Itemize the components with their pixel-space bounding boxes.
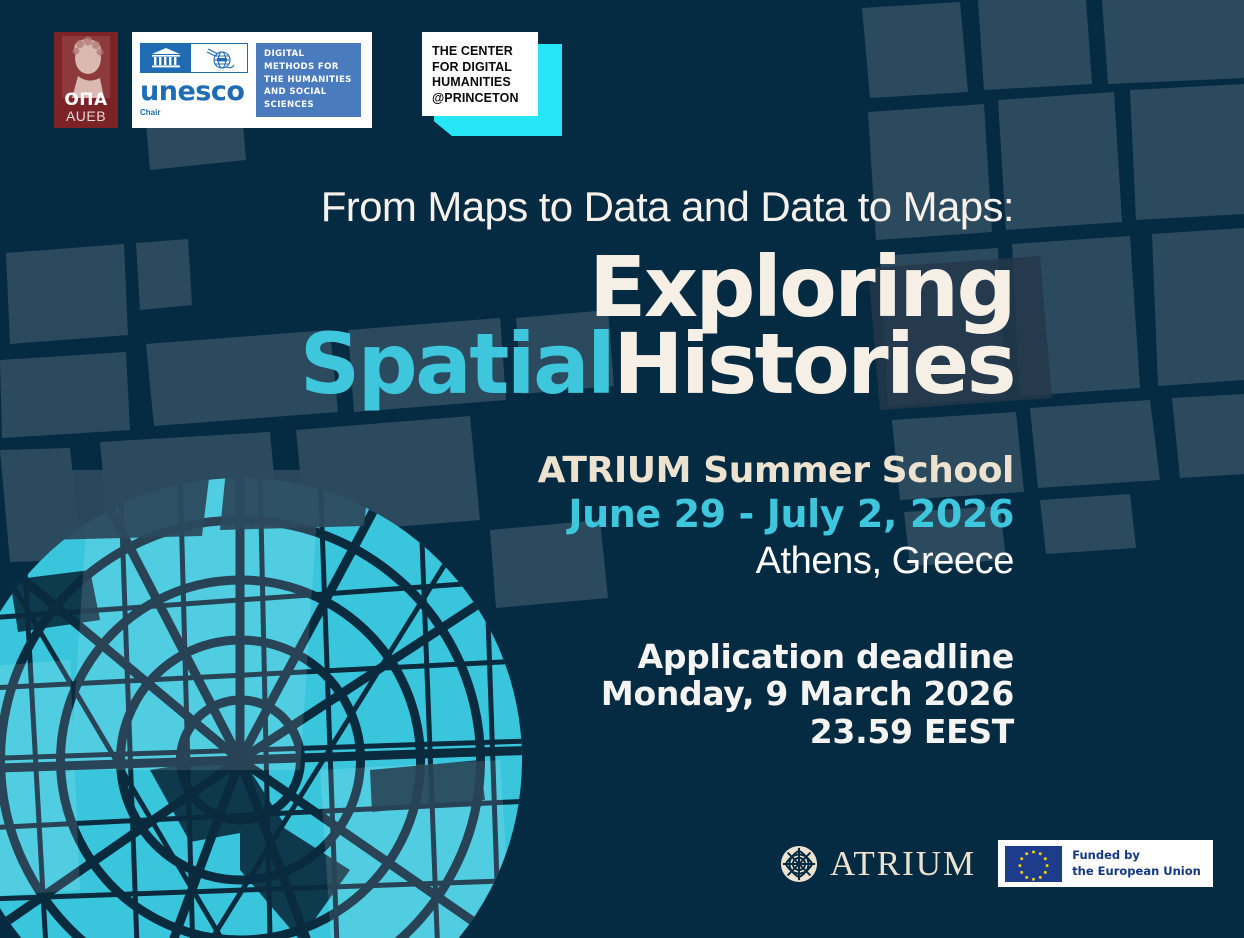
aueb-secondary-text: AUEB xyxy=(66,109,106,124)
cdh-line-3: HUMANITIES xyxy=(432,75,530,91)
unesco-globe-emblem-icon xyxy=(191,44,247,72)
european-union-flag-icon xyxy=(1005,846,1062,882)
unesco-chair-subtitle: Chair xyxy=(140,108,248,117)
event-dates: June 29 - July 2, 2026 xyxy=(0,492,1014,537)
unesco-emblem-row xyxy=(140,43,248,73)
center-for-digital-humanities-princeton-logo: THE CENTER FOR DIGITAL HUMANITIES @PRINC… xyxy=(422,32,562,136)
deadline-label: Application deadline xyxy=(0,638,1014,675)
cdh-line-2: FOR DIGITAL xyxy=(432,60,530,76)
headline-word-spatial: Spatial xyxy=(300,315,614,413)
cdh-line-4: @PRINCETON xyxy=(432,91,530,107)
cdh-line-1: THE CENTER xyxy=(432,44,530,60)
partner-logo-row: ΟΠΑ AUEB xyxy=(54,32,562,136)
unesco-chair-panel-text: DIGITAL METHODS FOR THE HUMANITIES AND S… xyxy=(256,43,361,117)
event-details-block: ATRIUM Summer School June 29 - July 2, 2… xyxy=(0,450,1014,587)
classical-bust-icon xyxy=(62,36,110,98)
headline-kicker: From Maps to Data and Data to Maps: xyxy=(0,186,1014,228)
aueb-logo: ΟΠΑ AUEB xyxy=(54,32,118,128)
headline-block: From Maps to Data and Data to Maps: Expl… xyxy=(0,186,1014,404)
headline-word-histories: Histories xyxy=(613,315,1014,413)
unesco-temple-icon xyxy=(141,44,191,72)
application-deadline-block: Application deadline Monday, 9 March 202… xyxy=(0,638,1014,750)
poster-canvas: ΟΠΑ AUEB xyxy=(0,0,1244,938)
footer-logo-row: ATRIUM xyxy=(780,840,1213,887)
deadline-time: 23.59 EEST xyxy=(0,713,1014,750)
unesco-wordmark: unesco xyxy=(140,78,248,105)
unesco-chair-logo: unesco Chair DIGITAL METHODS FOR THE HUM… xyxy=(132,32,372,128)
funded-by-european-union-logo: Funded by the European Union xyxy=(998,840,1213,887)
event-location: Athens, Greece xyxy=(0,537,1014,586)
atrium-logo: ATRIUM xyxy=(780,844,976,884)
event-name: ATRIUM Summer School xyxy=(0,450,1014,492)
atrium-wordmark: ATRIUM xyxy=(830,844,976,884)
aueb-primary-text: ΟΠΑ xyxy=(64,92,107,109)
cdh-card: THE CENTER FOR DIGITAL HUMANITIES @PRINC… xyxy=(422,32,538,116)
atrium-rosette-icon xyxy=(780,845,818,883)
deadline-date: Monday, 9 March 2026 xyxy=(0,675,1014,712)
eu-funding-line-2: the European Union xyxy=(1072,864,1201,880)
headline-line-spatial-histories: SpatialHistories xyxy=(0,325,1014,404)
eu-funding-text: Funded by the European Union xyxy=(1072,848,1201,880)
unesco-left-block: unesco Chair xyxy=(140,43,248,117)
eu-funding-line-1: Funded by xyxy=(1072,848,1201,864)
